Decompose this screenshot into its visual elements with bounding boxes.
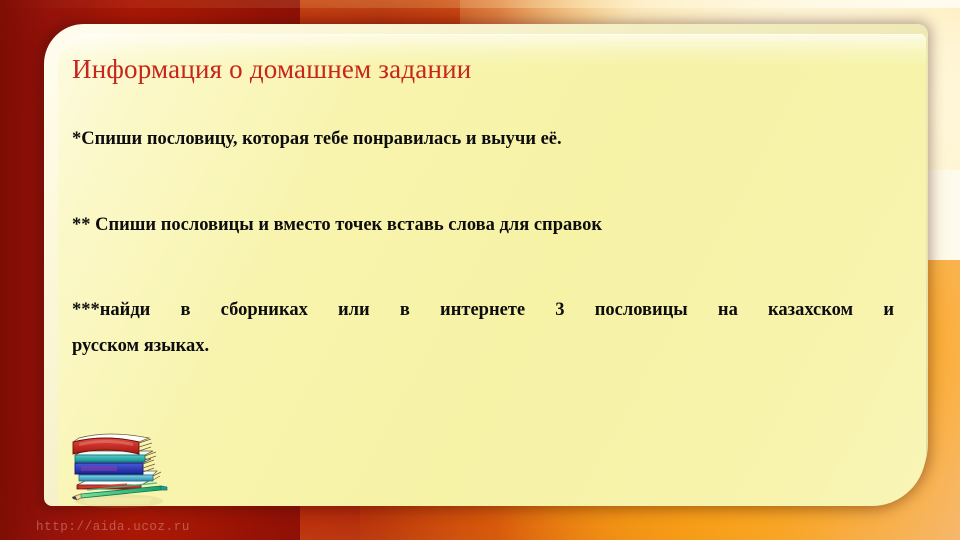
task-item-2: ** Спиши пословицы и вместо точек вставь…	[72, 212, 892, 238]
task-item-3-line-1: ***найди в сборниках или в интернете 3 п…	[72, 292, 894, 328]
homework-task-list: *Спиши пословицу, которая тебе понравила…	[72, 126, 892, 364]
slide-canvas: Информация о домашнем задании *Спиши пос…	[0, 0, 960, 540]
slide-content: Информация о домашнем задании *Спиши пос…	[72, 52, 892, 492]
task-item-1: *Спиши пословицу, которая тебе понравила…	[72, 126, 892, 152]
page-title: Информация о домашнем задании	[72, 52, 892, 86]
task-item-3-line-2: русском языках.	[72, 328, 894, 364]
background-top-streak	[0, 0, 960, 8]
books-icon	[57, 430, 187, 510]
task-item-3: ***найди в сборниках или в интернете 3 п…	[72, 292, 894, 364]
source-watermark: http://aida.ucoz.ru	[36, 520, 190, 534]
